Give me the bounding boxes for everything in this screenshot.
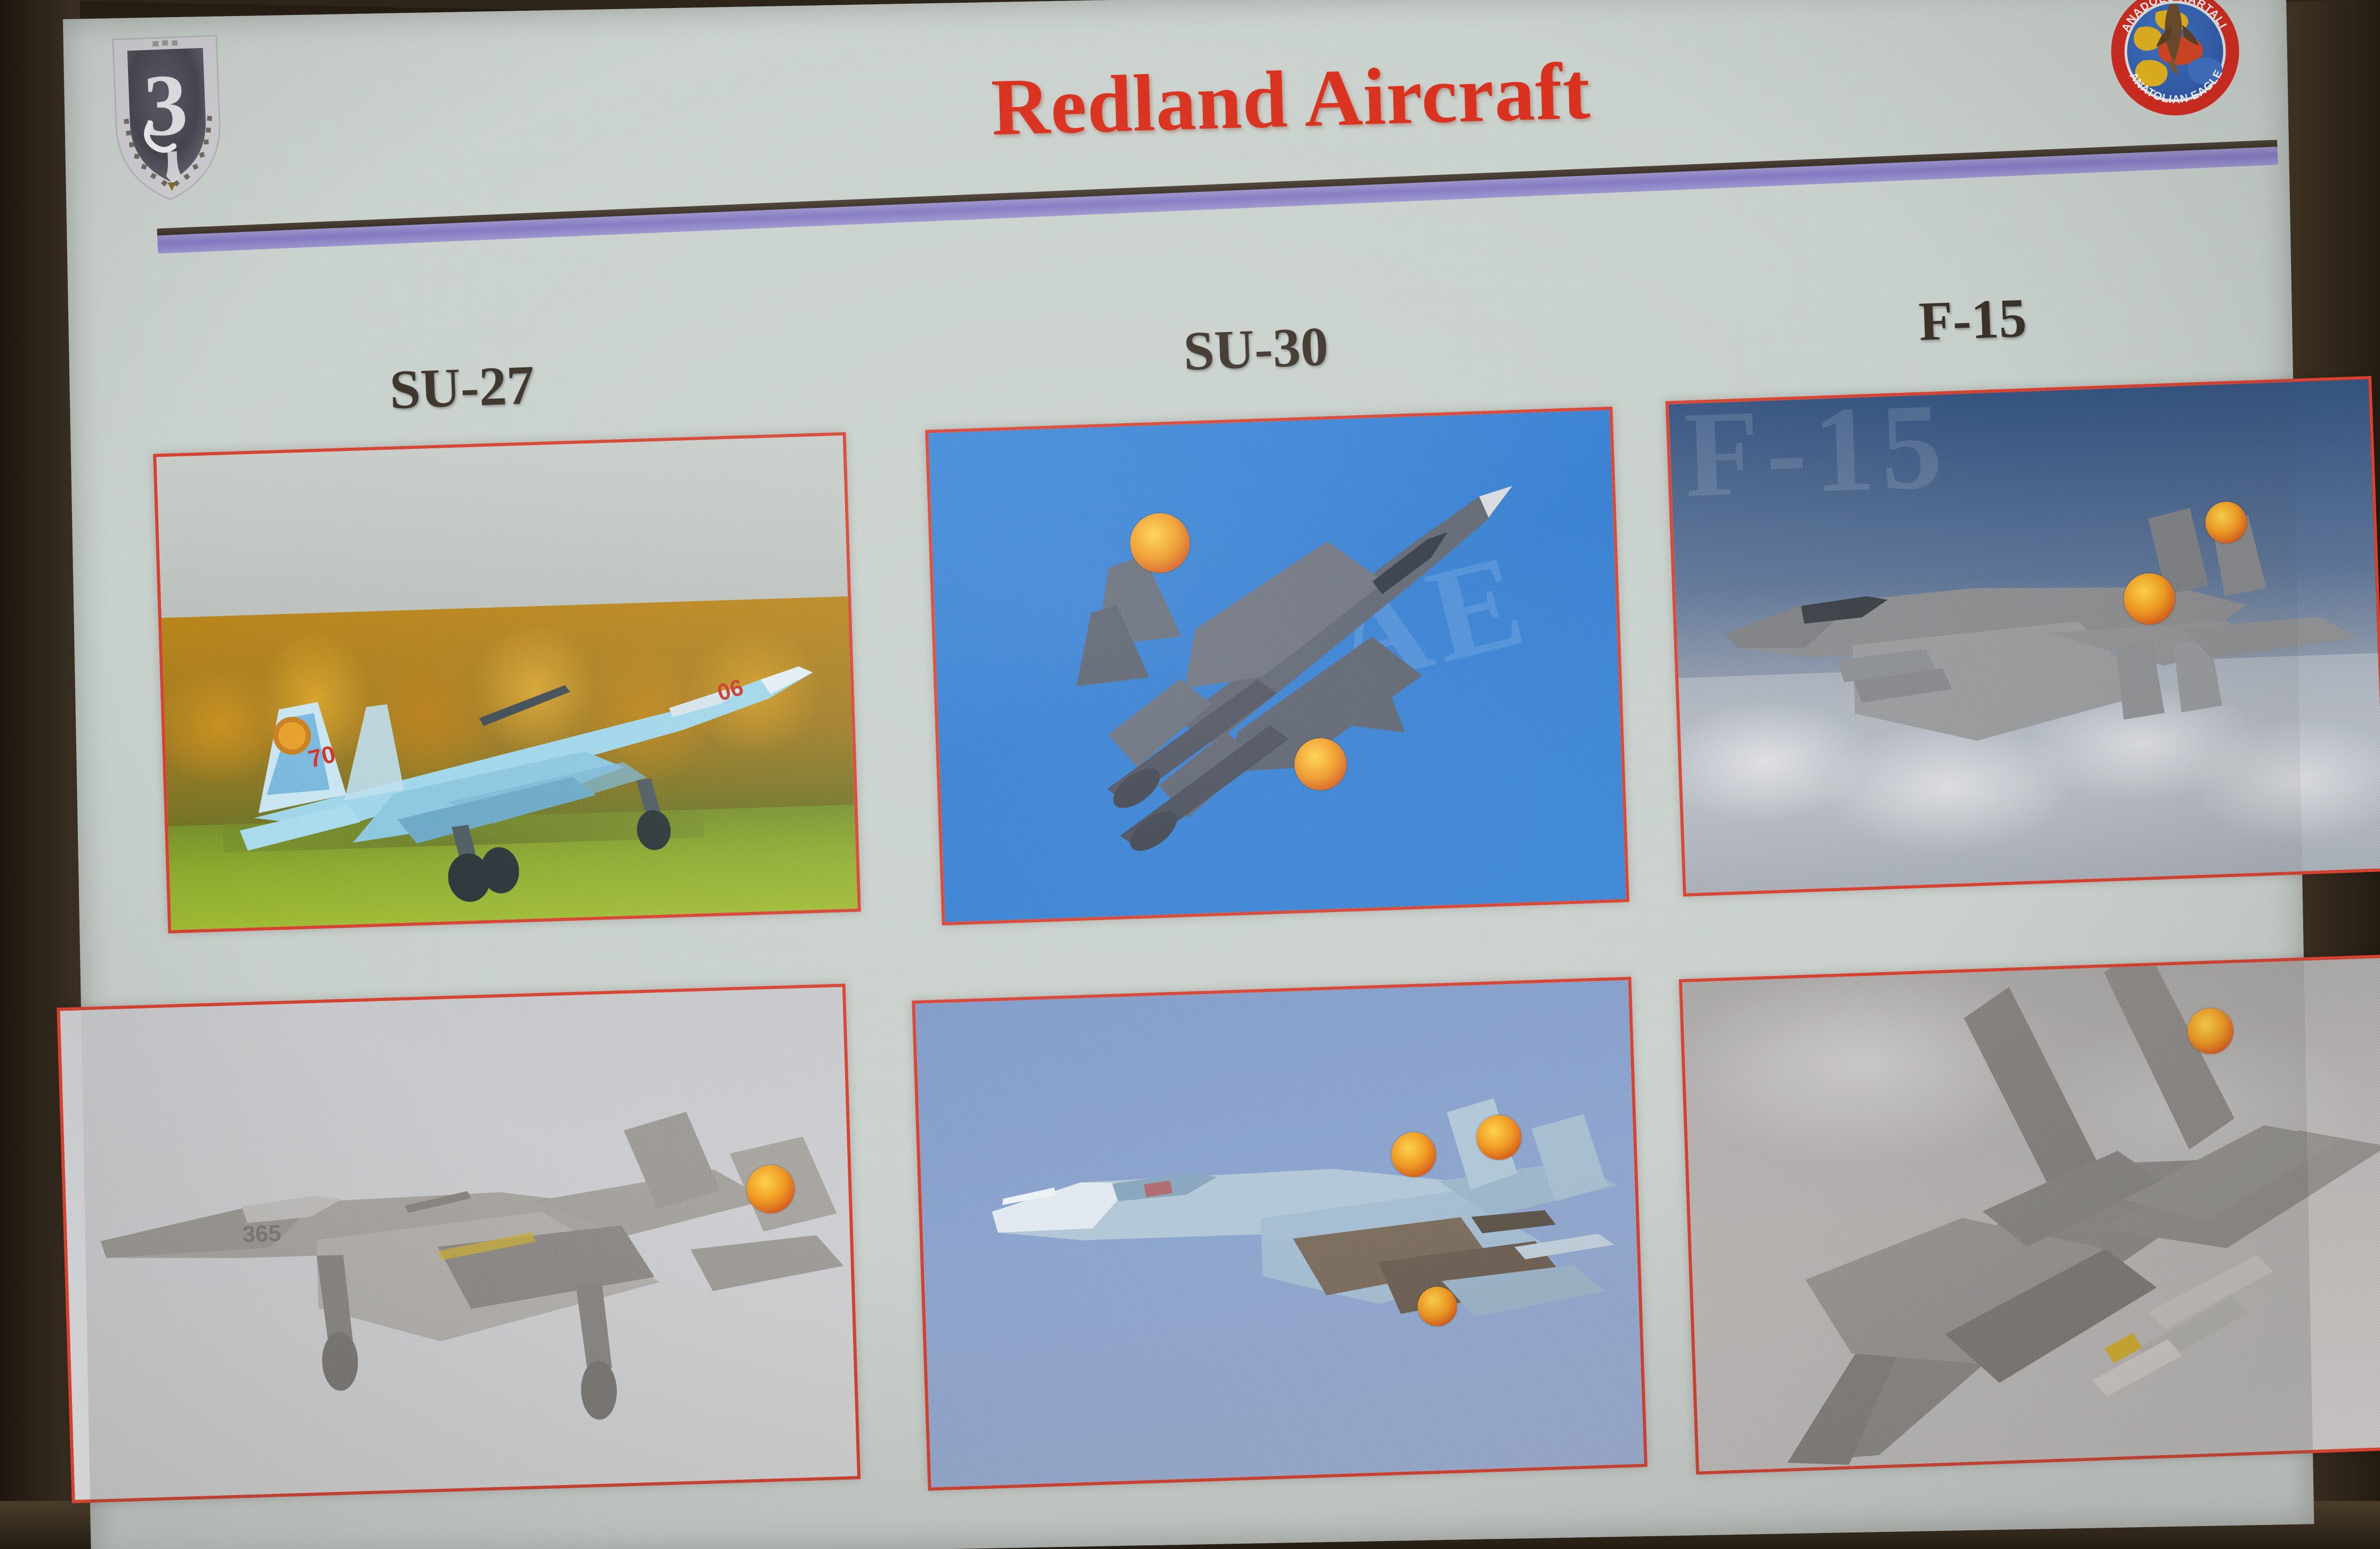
- photo-image-su30-bottom: [915, 980, 1644, 1488]
- squadron-shield-emblem: 3: [103, 26, 232, 206]
- anatolian-eagle-exercise-badge: ANADOLU KARTALI ANATOLIAN EAGLE: [2106, 0, 2244, 120]
- photo-f15-top[interactable]: F-15: [1666, 376, 2380, 897]
- aircraft-photo-grid: 70 06 AE: [63, 0, 2314, 1549]
- photo-image-su30-top: AE: [928, 410, 1626, 922]
- photo-su27-bottom[interactable]: 365: [57, 983, 861, 1503]
- photo-f15-bottom[interactable]: [1679, 954, 2380, 1475]
- photo-image-f15-bottom: [1682, 957, 2380, 1471]
- aircraft-label-su30: SU-30: [1183, 314, 1330, 383]
- aircraft-label-f15: F-15: [1918, 286, 2028, 353]
- aircraft-label-su27: SU-27: [389, 353, 536, 422]
- presentation-slide: Redland Aircraft 3: [63, 0, 2314, 1549]
- photo-image-f15-top: F-15: [1669, 379, 2380, 893]
- photo-image-su27-top: 70 06: [156, 435, 857, 930]
- photo-su30-top[interactable]: AE: [925, 407, 1629, 925]
- photo-su27-top[interactable]: 70 06: [153, 432, 861, 933]
- photo-image-su27-bottom: 365: [60, 987, 857, 1500]
- photo-su30-bottom[interactable]: [912, 977, 1647, 1490]
- screenshot-stage: Redland Aircraft 3: [0, 0, 2380, 1549]
